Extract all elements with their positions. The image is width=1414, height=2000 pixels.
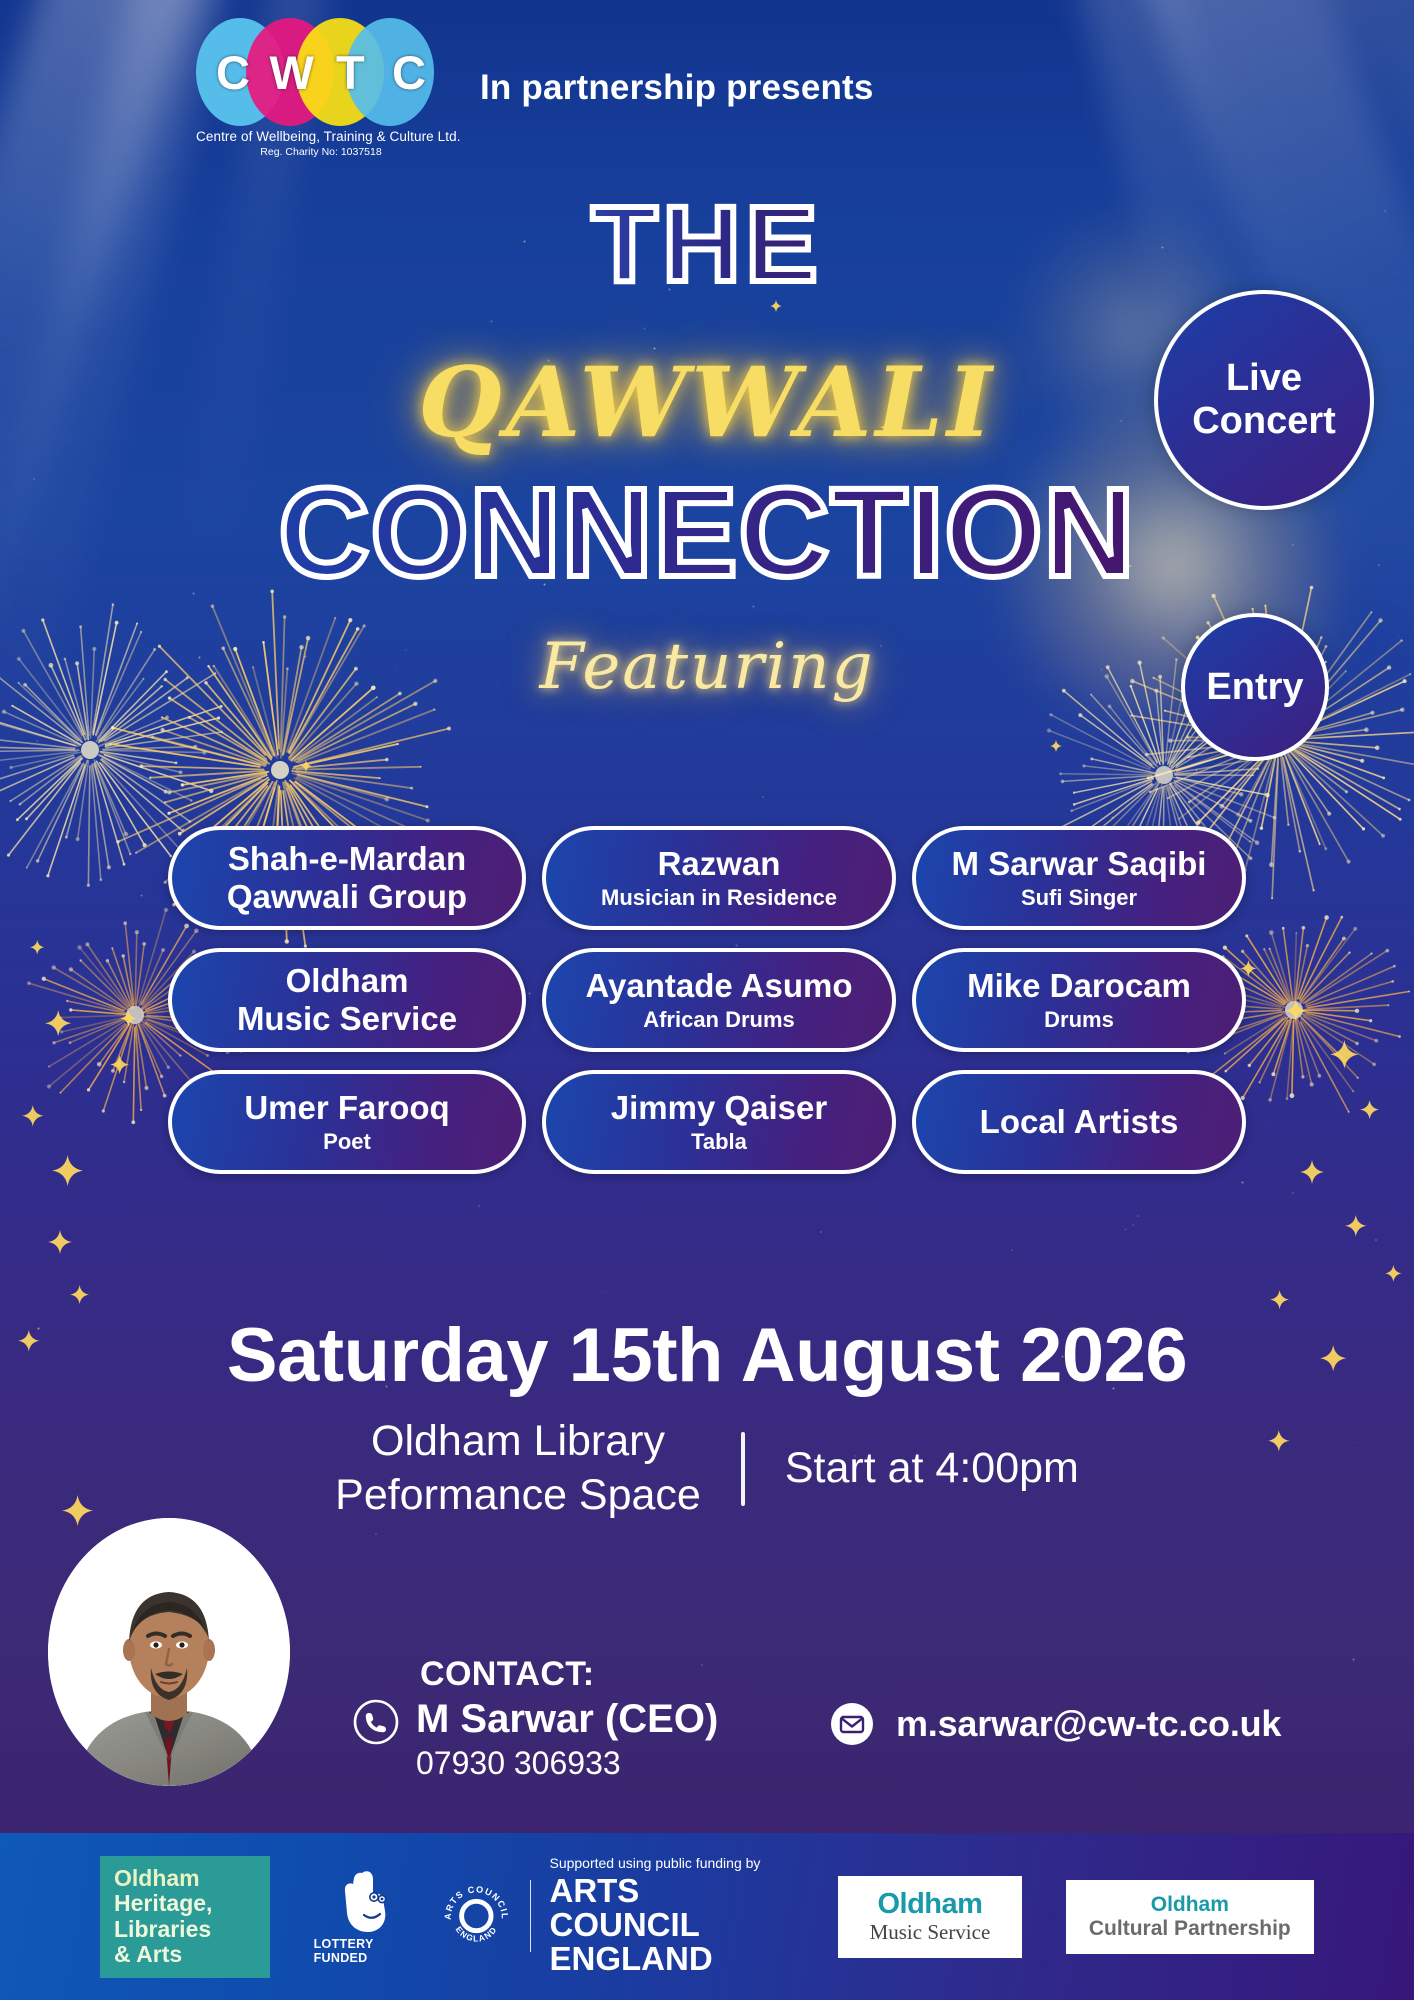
sparkle-dot [1375, 1239, 1377, 1241]
sparkle-dot [762, 796, 764, 798]
sparkle-dot [1137, 1215, 1139, 1217]
entry-badge: Entry [1181, 613, 1329, 761]
sparkle-dot [478, 1205, 480, 1207]
ohla-line4: & Arts [114, 1942, 256, 1967]
venue-name: Oldham Library Peformance Space [335, 1415, 701, 1523]
contact-phone-row[interactable]: M Sarwar (CEO) 07930 306933 [352, 1698, 718, 1785]
ocp-line2: Cultural Partnership [1089, 1917, 1291, 1940]
oldham-cultural-partnership-logo: Oldham Cultural Partnership [1066, 1880, 1314, 1954]
arts-council-wordmark: Supported using public funding by ARTS C… [549, 1856, 794, 1976]
arts-council-name-1: ARTS COUNCIL [549, 1874, 794, 1943]
performer-name-2: Music Service [237, 1000, 457, 1038]
contact-email: m.sarwar@cw-tc.co.uk [896, 1703, 1281, 1745]
live-concert-line1: Live [1192, 357, 1336, 400]
performer-name: M Sarwar Saqibi [952, 845, 1207, 883]
live-concert-line2: Concert [1192, 400, 1336, 443]
crossed-fingers-icon [332, 1867, 410, 1935]
logo-letter-c1: C [204, 45, 262, 100]
contact-label: CONTACT: [420, 1655, 594, 1694]
arts-council-ring-icon: ARTS COUNCIL ENGLAND [441, 1880, 512, 1952]
start-time: Start at 4:00pm [785, 1444, 1079, 1493]
performer-role: African Drums [643, 1007, 795, 1033]
performer-name: Ayantade Asumo [585, 967, 852, 1005]
sparkle-star [1345, 1215, 1367, 1237]
sparkle-dot [1195, 769, 1198, 772]
performer-pill: Razwan Musician in Residence [542, 826, 896, 930]
performer-role: Musician in Residence [601, 885, 837, 911]
performer-role: Tabla [691, 1129, 747, 1155]
poster-header: C W T C Centre of Wellbeing, Training & … [196, 18, 874, 158]
performer-pill: M Sarwar Saqibi Sufi Singer [912, 826, 1246, 930]
sparkle-dot [1352, 1658, 1355, 1661]
sparkle-star [1270, 1290, 1289, 1309]
event-poster: C W T C Centre of Wellbeing, Training & … [0, 0, 1414, 2000]
title-the-text: THE [592, 183, 823, 304]
title-line-the: THE [0, 190, 1414, 298]
contact-email-row[interactable]: m.sarwar@cw-tc.co.uk [828, 1700, 1281, 1748]
oldham-music-service-logo: Oldham Music Service [838, 1876, 1021, 1958]
supported-using-text: Supported using public funding by [549, 1856, 794, 1871]
venue-line2: Peformance Space [335, 1469, 701, 1523]
lottery-funded-mark: LOTTERY FUNDED [314, 1867, 429, 1965]
sparkle-star [48, 1230, 72, 1254]
title-connection-text: CONNECTION [279, 462, 1136, 603]
arts-council-divider [530, 1880, 532, 1952]
ceo-portrait [48, 1518, 290, 1786]
sparkle-dot [820, 1231, 822, 1233]
venue-line1: Oldham Library [335, 1415, 701, 1469]
performer-name: Shah-e-Mardan [228, 840, 466, 878]
ocp-line1: Oldham [1151, 1893, 1229, 1916]
logo-letter-t: T [321, 45, 379, 100]
org-name: Centre of Wellbeing, Training & Culture … [196, 129, 446, 144]
performer-pill: Umer Farooq Poet [168, 1070, 526, 1174]
sparkle-dot [643, 327, 646, 330]
envelope-icon [828, 1700, 876, 1748]
performer-name-2: Qawwali Group [227, 878, 467, 916]
sparkle-dot [701, 1664, 703, 1666]
sparkle-star [300, 760, 312, 772]
lottery-funded-text: LOTTERY FUNDED [314, 1937, 429, 1965]
performer-pill: Ayantade Asumo African Drums [542, 948, 896, 1052]
ohla-line2: Heritage, [114, 1891, 256, 1916]
performer-name: Jimmy Qaiser [611, 1089, 827, 1127]
sparkle-dot [1292, 1192, 1294, 1194]
performer-pill: Jimmy Qaiser Tabla [542, 1070, 896, 1174]
arts-council-name-2: ENGLAND [549, 1942, 794, 1976]
sparkle-dot [36, 740, 38, 742]
performer-row: Oldham Music Service Ayantade Asumo Afri… [0, 948, 1414, 1052]
performer-row: Shah-e-Mardan Qawwali Group Razwan Music… [0, 826, 1414, 930]
performer-role: Poet [323, 1129, 371, 1155]
sparkle-dot [1124, 1228, 1127, 1231]
charity-number: Reg. Charity No: 1037518 [196, 146, 446, 158]
cwtc-logo-letters: C W T C [196, 18, 446, 126]
performer-name: Oldham [286, 962, 409, 1000]
sparkle-dot [1132, 1224, 1134, 1226]
sparkle-dot [1011, 1249, 1013, 1251]
contact-phone: 07930 306933 [416, 1742, 718, 1785]
event-date: Saturday 15th August 2026 [0, 1312, 1414, 1399]
sparkle-dot [490, 320, 493, 323]
sparkle-dot [375, 1533, 377, 1535]
performer-list: Shah-e-Mardan Qawwali Group Razwan Music… [0, 826, 1414, 1192]
phone-icon [352, 1698, 400, 1746]
arts-council-logo: LOTTERY FUNDED ARTS COUNCIL ENGLAND Supp… [314, 1856, 795, 1976]
cwtc-logo-marks: C W T C [196, 18, 446, 126]
ohla-line1: Oldham [114, 1866, 256, 1891]
performer-role: Sufi Singer [1021, 885, 1137, 911]
performer-role: Drums [1044, 1007, 1114, 1033]
ohla-line3: Libraries [114, 1917, 256, 1942]
performer-pill: Mike Darocam Drums [912, 948, 1246, 1052]
logo-letter-c2: C [380, 45, 438, 100]
performer-name: Umer Farooq [244, 1089, 449, 1127]
ring-bottom-label: ENGLAND [454, 1925, 499, 1944]
cwtc-logo: C W T C Centre of Wellbeing, Training & … [196, 18, 446, 158]
performer-pill: Shah-e-Mardan Qawwali Group [168, 826, 526, 930]
live-concert-badge: Live Concert [1154, 290, 1374, 510]
performer-pill: Local Artists [912, 1070, 1246, 1174]
sponsor-footer: Oldham Heritage, Libraries & Arts LOTTER… [0, 1833, 1414, 2000]
performer-name: Local Artists [980, 1103, 1179, 1141]
performer-row: Umer Farooq Poet Jimmy Qaiser Tabla Loca… [0, 1070, 1414, 1174]
sparkle-star [1050, 740, 1062, 752]
performer-name: Mike Darocam [967, 967, 1191, 1005]
portrait-image [48, 1518, 290, 1786]
performer-name: Razwan [658, 845, 781, 883]
performer-pill: Oldham Music Service [168, 948, 526, 1052]
sparkle-star [70, 1285, 89, 1304]
sparkle-dot [602, 1291, 603, 1292]
sparkle-dot [752, 605, 755, 608]
venue-block: Oldham Library Peformance Space Start at… [0, 1415, 1414, 1523]
venue-divider [741, 1432, 745, 1506]
oms-line1: Oldham [877, 1889, 982, 1921]
sparkle-dot [1111, 816, 1114, 819]
presents-text: In partnership presents [480, 68, 874, 108]
oms-line2: Music Service [870, 1921, 991, 1944]
oldham-heritage-logo: Oldham Heritage, Libraries & Arts [100, 1856, 270, 1978]
contact-name: M Sarwar (CEO) [416, 1698, 718, 1740]
logo-letter-w: W [263, 45, 321, 100]
sparkle-star [1385, 1265, 1402, 1282]
svg-text:ENGLAND: ENGLAND [454, 1925, 499, 1944]
